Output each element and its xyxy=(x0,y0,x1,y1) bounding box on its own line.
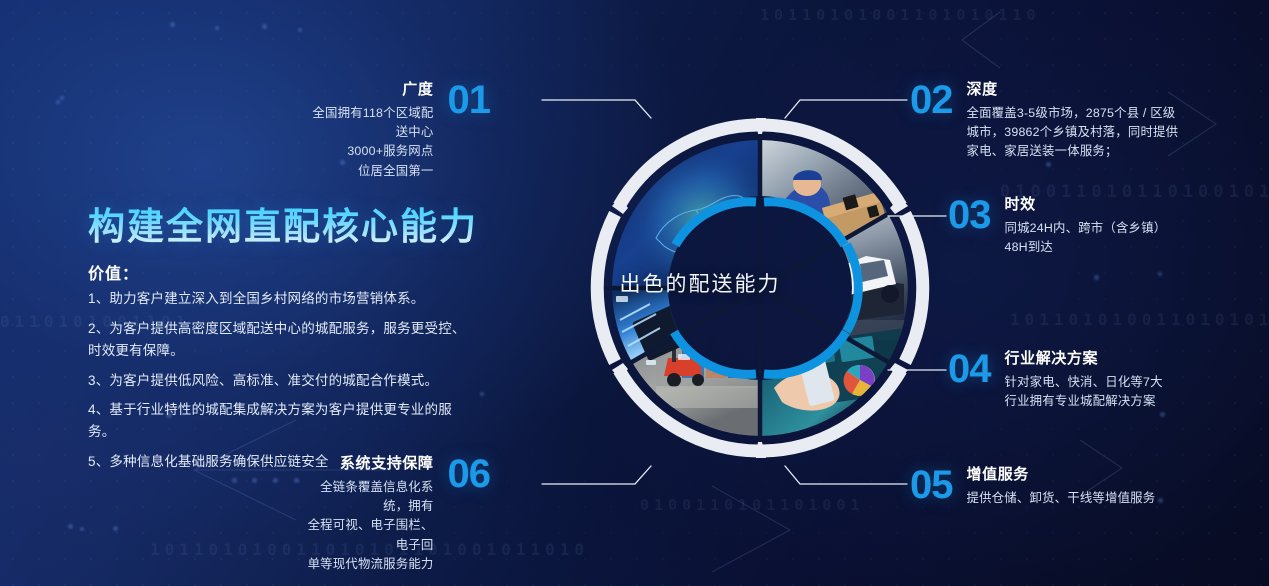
glow-dot xyxy=(60,96,64,100)
glow-dot xyxy=(480,392,484,396)
glow-dot xyxy=(80,527,84,531)
chevron-right-icon xyxy=(712,486,790,572)
callout-02-number: 02 xyxy=(910,80,953,120)
glow-dot xyxy=(298,28,302,32)
glow-dot xyxy=(1160,412,1165,417)
chevron-left-icon xyxy=(962,12,1000,68)
binary-row: 10110101001101010110 xyxy=(760,6,1041,24)
callout-05-number: 05 xyxy=(910,465,953,505)
value-list-item: 1、助力客户建立深入到全国乡村网络的市场营销体系。 xyxy=(88,288,468,310)
glow-dot xyxy=(215,26,219,30)
callout-03-number: 03 xyxy=(948,195,991,235)
value-section-heading: 价值： xyxy=(88,260,139,284)
callout-02-text: 深度 全面覆盖3-5级市场，2875个县 / 区级 城市，39862个乡镇及村落… xyxy=(967,78,1179,162)
callout-01-number: 01 xyxy=(448,80,491,120)
glow-dot xyxy=(1094,275,1099,280)
callout-04-number: 04 xyxy=(948,349,991,389)
callout-02-title: 深度 xyxy=(967,78,1179,99)
callout-03[interactable]: 03 时效 同城24H内、跨市（含乡镇） 48H到达 xyxy=(948,193,1218,257)
callout-05[interactable]: 05 增值服务 提供仓储、卸货、干线等增值服务 xyxy=(910,463,1210,508)
callout-05-body: 提供仓储、卸货、干线等增值服务 xyxy=(967,489,1156,508)
callout-01-text: 广度 全国拥有118个区域配送中心 3000+服务网点 位居全国第一 xyxy=(300,78,434,181)
glow-dot xyxy=(1158,272,1162,276)
callout-05-title: 增值服务 xyxy=(967,463,1156,484)
callout-04-text: 行业解决方案 针对家电、快消、日化等7大 行业拥有专业城配解决方案 xyxy=(1005,347,1163,411)
callout-05-text: 增值服务 提供仓储、卸货、干线等增值服务 xyxy=(967,463,1156,508)
callout-01[interactable]: 广度 全国拥有118个区域配送中心 3000+服务网点 位居全国第一 01 xyxy=(300,78,490,181)
glow-dot xyxy=(170,22,175,27)
glow-dot xyxy=(262,24,267,29)
callout-03-body: 同城24H内、跨市（含乡镇） 48H到达 xyxy=(1005,219,1167,257)
callout-01-title: 广度 xyxy=(300,78,434,99)
callout-04-title: 行业解决方案 xyxy=(1005,347,1163,368)
callout-02-body: 全面覆盖3-5级市场，2875个县 / 区级 城市，39862个乡镇及村落，同时… xyxy=(967,104,1179,162)
slide-root: 10110101001101010110 0100110101101001011… xyxy=(0,0,1269,586)
callout-01-body: 全国拥有118个区域配送中心 3000+服务网点 位居全国第一 xyxy=(300,104,434,181)
glow-dot xyxy=(113,526,118,531)
glow-dot xyxy=(1046,162,1051,167)
callout-04[interactable]: 04 行业解决方案 针对家电、快消、日化等7大 行业拥有专业城配解决方案 xyxy=(948,347,1218,411)
callout-03-text: 时效 同城24H内、跨市（含乡镇） 48H到达 xyxy=(1005,193,1167,257)
binary-row: 1011010100110101011010011 xyxy=(1010,310,1269,329)
ring-center-label: 出色的配送能力 xyxy=(580,268,820,298)
callout-02[interactable]: 02 深度 全面覆盖3-5级市场，2875个县 / 区级 城市，39862个乡镇… xyxy=(910,78,1210,162)
value-list: 1、助力客户建立深入到全国乡村网络的市场营销体系。 2、为客户提供高密度区域配送… xyxy=(88,288,468,481)
callout-06-body: 全链条覆盖信息化系统，拥有 全程可视、电子围栏、电子回 单等现代物流服务能力 xyxy=(300,478,434,574)
callout-03-title: 时效 xyxy=(1005,193,1167,214)
glow-dot xyxy=(56,100,60,104)
binary-row: 0100110101101001 xyxy=(640,496,865,514)
glow-dot xyxy=(68,524,73,529)
value-list-item: 2、为客户提供高密度区域配送中心的城配服务，服务更受控、时效更有保障。 xyxy=(88,318,468,362)
value-list-item: 3、为客户提供低风险、高标准、准交付的城配合作模式。 xyxy=(88,370,468,392)
value-list-item: 4、基于行业特性的城配集成解决方案为客户提供更专业的服务。 xyxy=(88,399,468,443)
value-list-item: 5、多种信息化基础服务确保供应链安全 xyxy=(88,451,468,473)
page-title: 构建全网直配核心能力 xyxy=(88,196,478,250)
callout-04-body: 针对家电、快消、日化等7大 行业拥有专业城配解决方案 xyxy=(1005,373,1163,411)
